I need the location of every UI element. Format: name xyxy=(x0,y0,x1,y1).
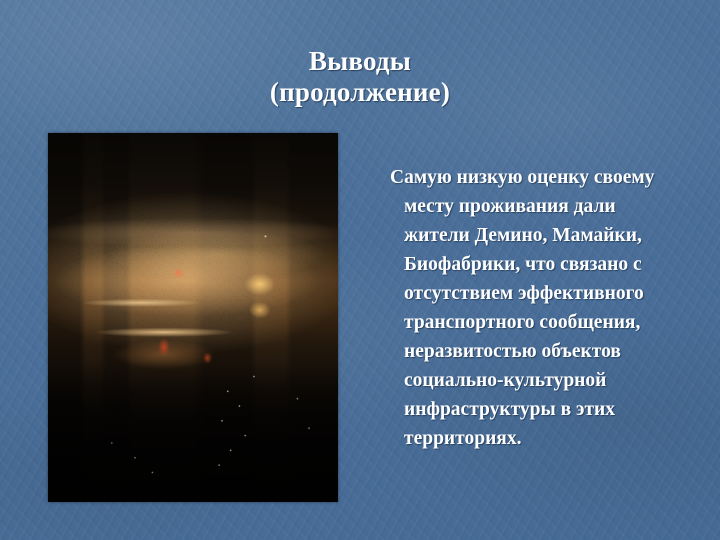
body-line: жители Демино, Мамайки, xyxy=(404,221,708,250)
body-line: социально-культурной xyxy=(404,366,708,395)
body-line: инфраструктуры в этих xyxy=(404,395,708,424)
slide-title-line-1: Выводы xyxy=(0,46,720,77)
presentation-slide: Выводы (продолжение) Самую низкую оценку… xyxy=(0,0,720,540)
body-line: транспортного сообщения, xyxy=(404,308,708,337)
body-line: неразвитостью объектов xyxy=(404,337,708,366)
body-line: отсутствием эффективного xyxy=(404,279,708,308)
slide-title-line-2: (продолжение) xyxy=(0,77,720,108)
slide-title: Выводы (продолжение) xyxy=(0,46,720,108)
body-line: Биофабрики, что связано с xyxy=(404,250,708,279)
body-line: месту проживания дали xyxy=(404,192,708,221)
slide-body-text: Самую низкую оценку своему месту прожива… xyxy=(386,163,708,453)
body-line: территориях. xyxy=(404,424,708,453)
cityscape-photo xyxy=(48,133,338,502)
body-line: Самую низкую оценку своему xyxy=(390,163,708,192)
cityscape-photo-image xyxy=(48,133,338,502)
